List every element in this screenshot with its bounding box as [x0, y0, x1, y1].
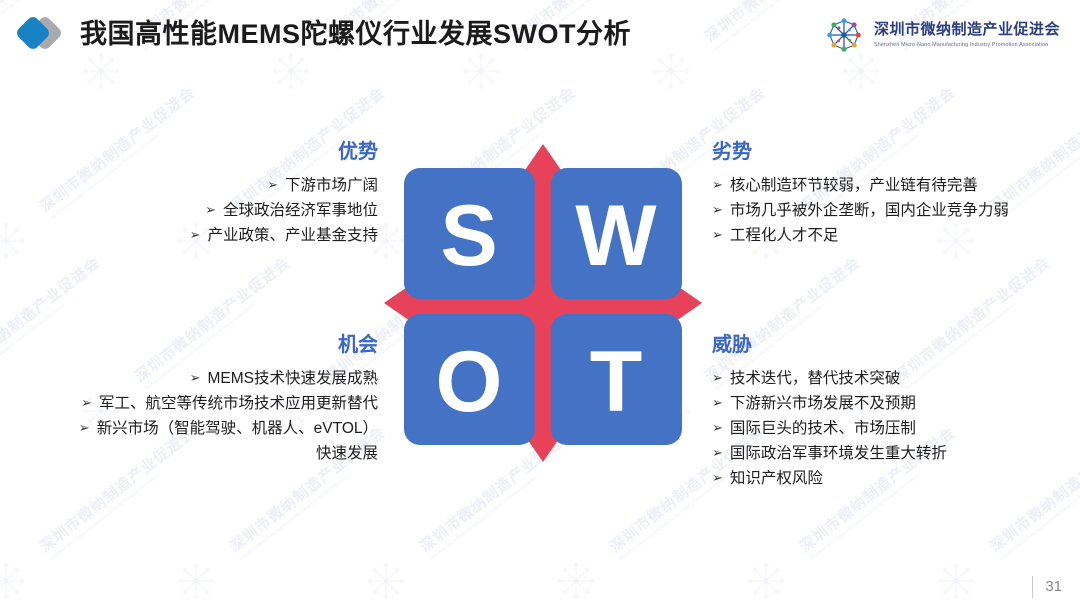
quadrant-threats: 威胁 ➢技术迭代，替代技术突破➢下游新兴市场发展不及预期➢国际巨头的技术、市场压…	[712, 333, 1080, 491]
list-item: ➢核心制造环节较弱，产业链有待完善	[712, 173, 1080, 198]
watermark-logo-icon	[363, 558, 409, 604]
quadrant-threats-list: ➢技术迭代，替代技术突破➢下游新兴市场发展不及预期➢国际巨头的技术、市场压制➢国…	[712, 366, 1080, 491]
arrow-bullet-icon: ➢	[205, 197, 216, 222]
arrow-bullet-icon: ➢	[712, 390, 723, 415]
list-item-label: 军工、航空等传统市场技术应用更新替代	[99, 395, 378, 412]
watermark-logo-icon	[173, 558, 219, 604]
page-title: 我国高性能MEMS陀螺仪行业发展SWOT分析	[80, 14, 631, 54]
quadrant-weaknesses-title: 劣势	[712, 140, 1080, 164]
micro-nano-network-logo-icon	[823, 14, 865, 56]
list-item: ➢市场几乎被外企垄断，国内企业竞争力弱	[712, 198, 1080, 223]
page-number: 31	[1045, 576, 1062, 598]
list-item: ➢下游市场广阔	[0, 173, 378, 198]
swot-letter-o: O	[436, 334, 503, 430]
list-item: ➢技术迭代，替代技术突破	[712, 366, 1080, 391]
diamond-logo-icon	[14, 14, 70, 54]
list-item-label: 产业政策、产业基金支持	[207, 227, 378, 244]
swot-matrix-graphic: S W O T	[378, 138, 708, 468]
list-item-label: 市场几乎被外企垄断，国内企业竞争力弱	[730, 202, 1009, 219]
list-item: ➢下游新兴市场发展不及预期	[712, 391, 1080, 416]
swot-letter-w: W	[575, 188, 657, 284]
list-item: ➢MEMS技术快速发展成熟	[0, 366, 378, 391]
arrow-bullet-icon: ➢	[712, 197, 723, 222]
list-item-label: MEMS技术快速发展成熟	[207, 370, 378, 387]
list-item-label: 国际政治军事环境发生重大转折	[730, 445, 947, 462]
brand-name-cn: 深圳市微纳制造产业促进会	[874, 21, 1060, 39]
list-item-label: 知识产权风险	[730, 470, 823, 487]
arrow-bullet-icon: ➢	[712, 365, 723, 390]
brand-lockup: 深圳市微纳制造产业促进会 Shenzhen Micro-Nano Manufac…	[823, 14, 1060, 56]
list-item-label: 国际巨头的技术、市场压制	[730, 420, 916, 437]
quadrant-opportunities-title: 机会	[0, 333, 378, 357]
quadrant-opportunities-continuation: 快速发展	[0, 441, 378, 466]
quadrant-strengths-title: 优势	[0, 140, 378, 164]
quadrant-weaknesses-list: ➢核心制造环节较弱，产业链有待完善➢市场几乎被外企垄断，国内企业竞争力弱➢工程化…	[712, 173, 1080, 248]
list-item-label: 工程化人才不足	[730, 227, 839, 244]
watermark-logo-icon	[0, 558, 29, 604]
list-item-label: 核心制造环节较弱，产业链有待完善	[730, 177, 978, 194]
arrow-bullet-icon: ➢	[712, 440, 723, 465]
quadrant-weaknesses: 劣势 ➢核心制造环节较弱，产业链有待完善➢市场几乎被外企垄断，国内企业竞争力弱➢…	[712, 140, 1080, 248]
list-item-label: 新兴市场（智能驾驶、机器人、eVTOL）	[97, 420, 378, 437]
list-item: ➢知识产权风险	[712, 466, 1080, 491]
watermark-logo-icon	[553, 558, 599, 604]
watermark-logo-icon	[933, 558, 979, 604]
arrow-bullet-icon: ➢	[267, 172, 278, 197]
list-item-label: 技术迭代，替代技术突破	[730, 370, 901, 387]
brand-name-en: Shenzhen Micro-Nano Manufacturing Indust…	[874, 41, 1060, 49]
swot-letter-s: S	[440, 188, 497, 284]
arrow-bullet-icon: ➢	[79, 415, 90, 440]
arrow-bullet-icon: ➢	[190, 365, 201, 390]
list-item-label: 下游市场广阔	[285, 177, 378, 194]
slide-canvas: 深圳市微纳制造产业促进会Shenzhen Micro-Nano Manufact…	[0, 0, 1080, 608]
quadrant-threats-title: 威胁	[712, 333, 1080, 357]
arrow-bullet-icon: ➢	[712, 172, 723, 197]
list-item-label: 下游新兴市场发展不及预期	[730, 395, 916, 412]
watermark-logo-icon	[743, 558, 789, 604]
quadrant-strengths-list: ➢下游市场广阔➢全球政治经济军事地位➢产业政策、产业基金支持	[0, 173, 378, 248]
quadrant-opportunities-list: ➢MEMS技术快速发展成熟➢军工、航空等传统市场技术应用更新替代➢新兴市场（智能…	[0, 366, 378, 441]
arrow-bullet-icon: ➢	[190, 222, 201, 247]
list-item: ➢新兴市场（智能驾驶、机器人、eVTOL）	[0, 416, 378, 441]
list-item: ➢国际巨头的技术、市场压制	[712, 416, 1080, 441]
slide-footer: 31	[1032, 576, 1062, 598]
list-item: ➢军工、航空等传统市场技术应用更新替代	[0, 391, 378, 416]
list-item: ➢产业政策、产业基金支持	[0, 223, 378, 248]
footer-divider	[1032, 576, 1033, 598]
list-item: ➢全球政治经济军事地位	[0, 198, 378, 223]
arrow-bullet-icon: ➢	[712, 465, 723, 490]
list-item: ➢国际政治军事环境发生重大转折	[712, 441, 1080, 466]
arrow-bullet-icon: ➢	[712, 415, 723, 440]
list-item: ➢工程化人才不足	[712, 223, 1080, 248]
slide-header: 我国高性能MEMS陀螺仪行业发展SWOT分析	[0, 0, 1080, 72]
quadrant-strengths: 优势 ➢下游市场广阔➢全球政治经济军事地位➢产业政策、产业基金支持	[0, 140, 386, 248]
list-item-label: 全球政治经济军事地位	[223, 202, 378, 219]
arrow-bullet-icon: ➢	[712, 222, 723, 247]
arrow-bullet-icon: ➢	[81, 390, 92, 415]
quadrant-opportunities: 机会 ➢MEMS技术快速发展成熟➢军工、航空等传统市场技术应用更新替代➢新兴市场…	[0, 333, 386, 466]
swot-letter-t: T	[590, 334, 643, 430]
